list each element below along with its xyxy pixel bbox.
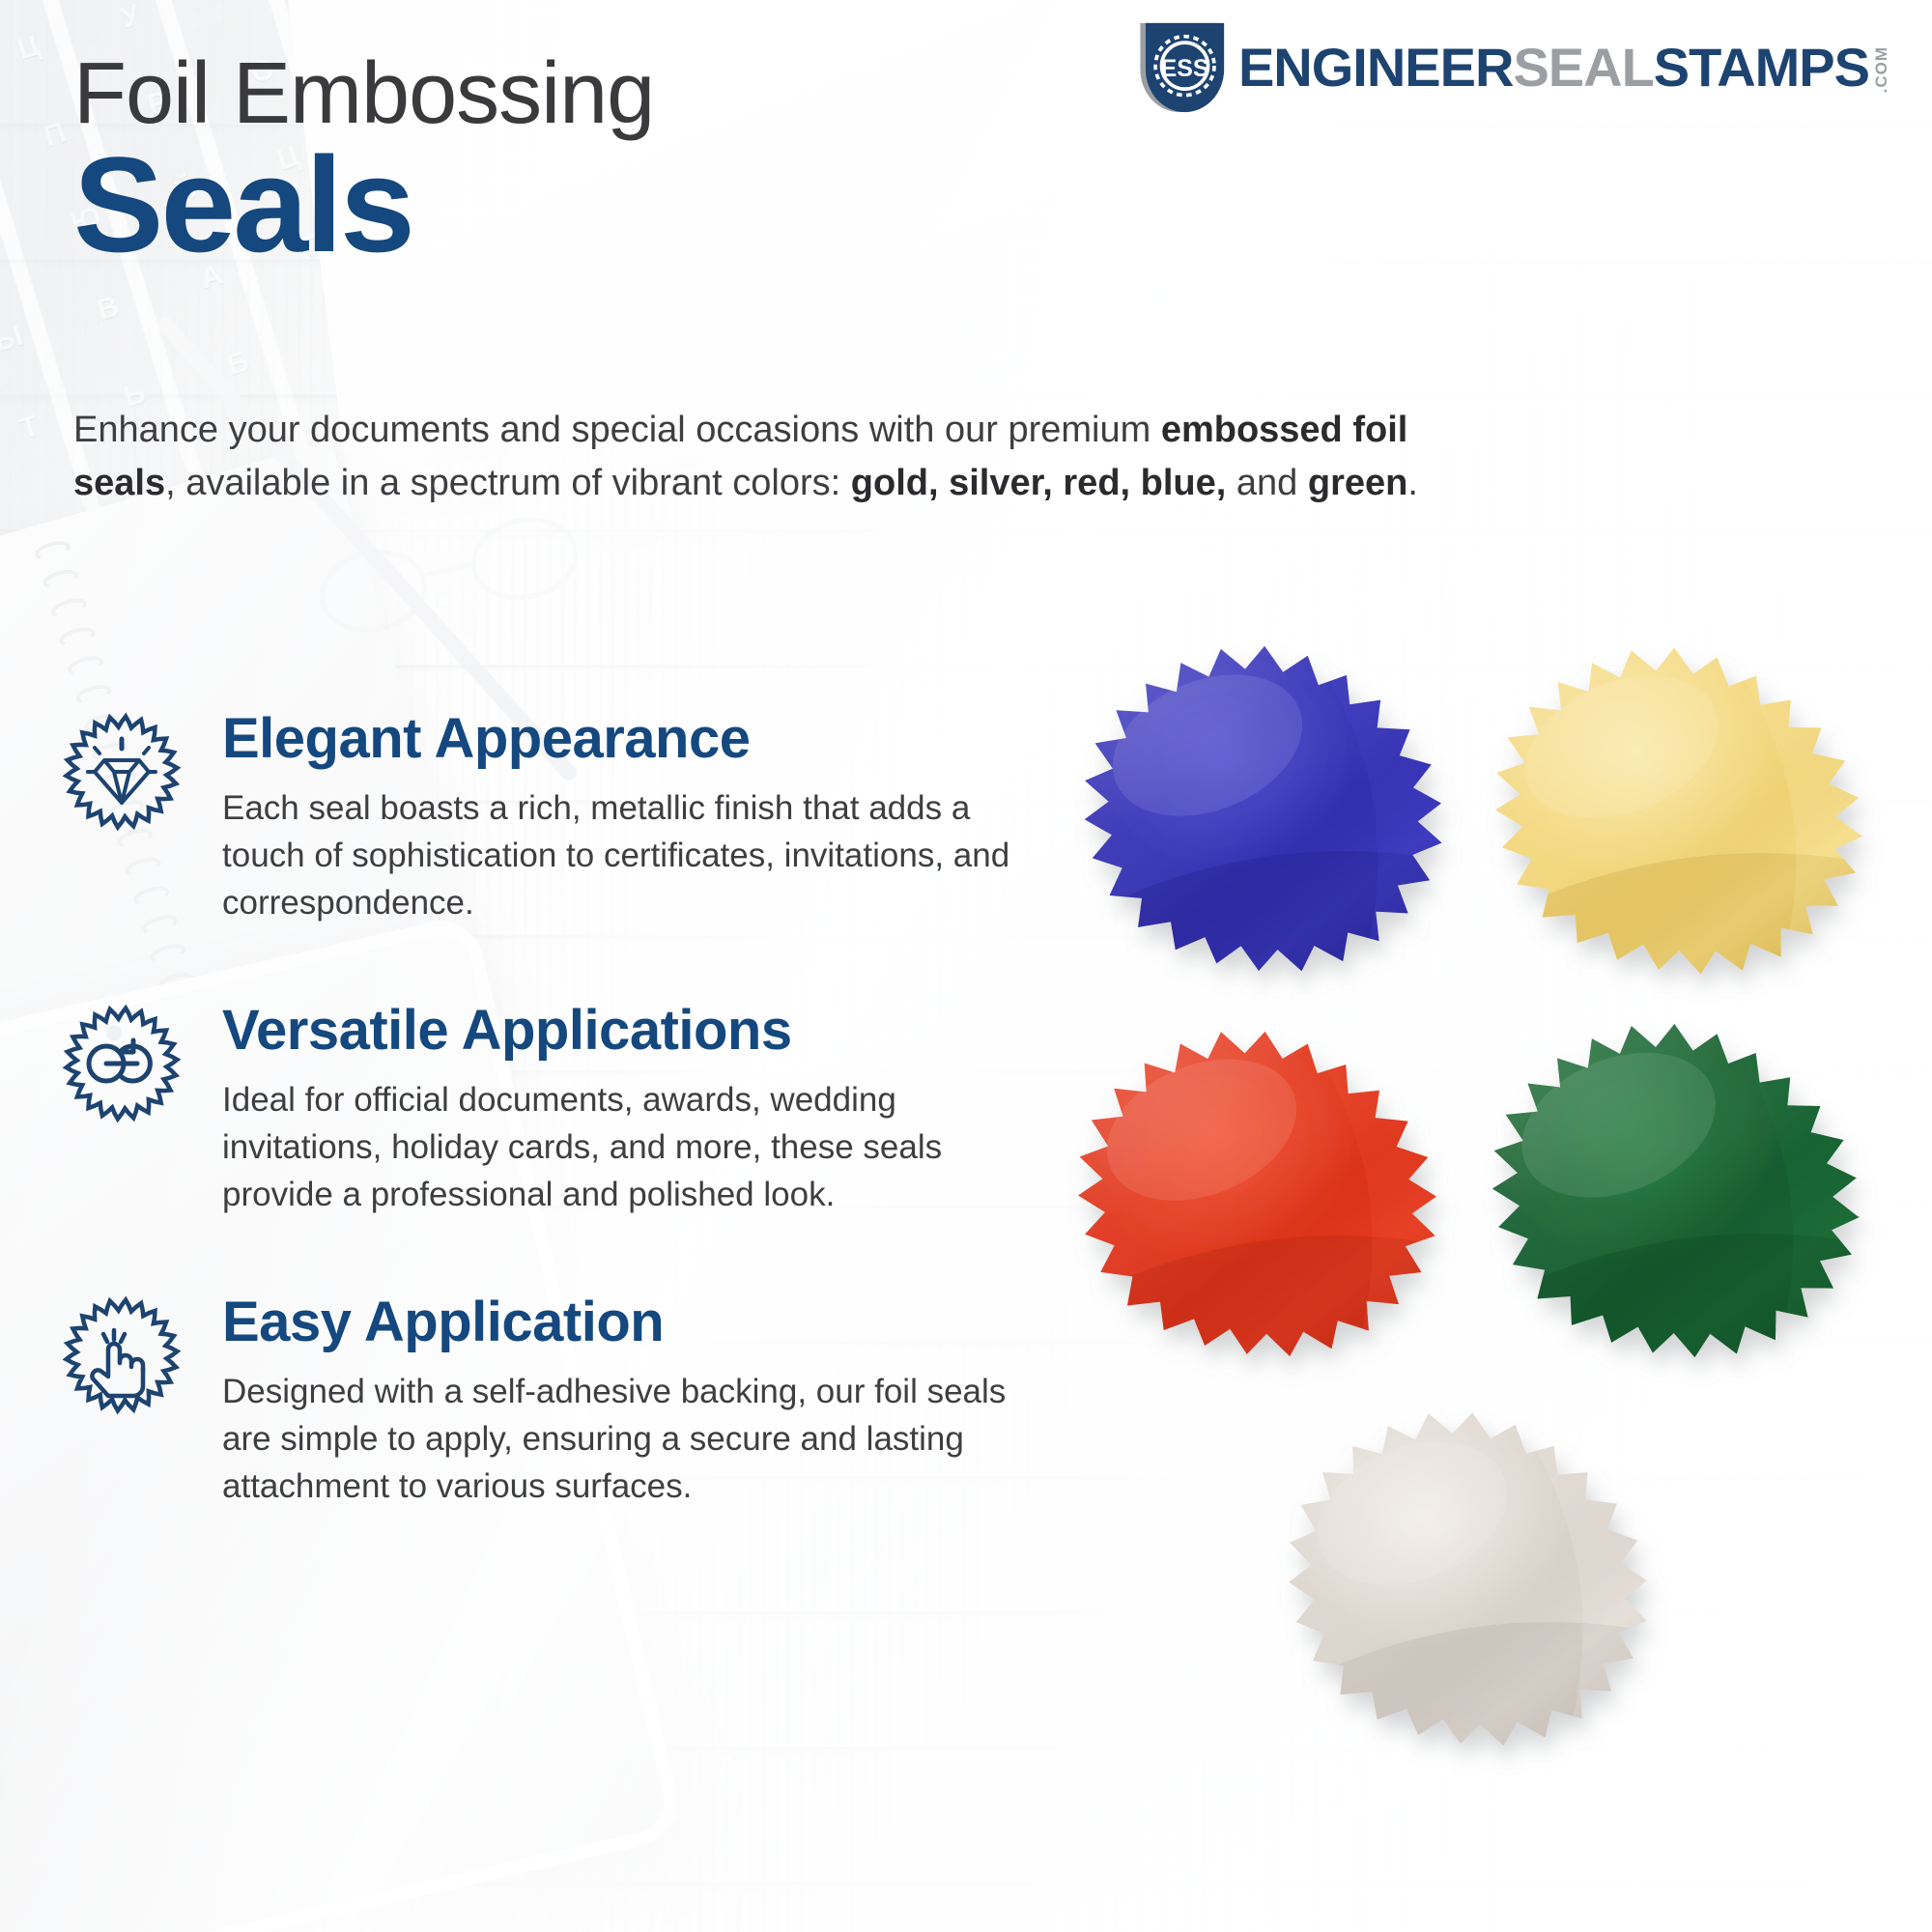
page-title: Foil Embossing Seals xyxy=(73,50,654,268)
intro-bold-2: gold, silver, red, blue, xyxy=(851,463,1227,503)
intro-text-3: and xyxy=(1226,463,1308,503)
seal-green xyxy=(1476,1014,1872,1372)
seal-blue xyxy=(1068,638,1455,985)
infinity-loop-arrow-icon xyxy=(60,1002,184,1125)
red foil seal-shape xyxy=(1063,1022,1449,1370)
feature-body: Ideal for official documents, awards, we… xyxy=(222,1076,1045,1218)
green foil seal-shape xyxy=(1476,1014,1872,1372)
tapping-hand-icon xyxy=(60,1293,184,1417)
brand-word-dotcom: .COM xyxy=(1873,46,1889,93)
blue foil seal-shape xyxy=(1068,638,1455,985)
diamond-sparkle-icon xyxy=(60,710,184,834)
brand-word-seal: SEAL xyxy=(1513,41,1653,95)
svg-text:ESS: ESS xyxy=(1161,55,1209,82)
feature-title: Versatile Applications xyxy=(222,1002,1045,1061)
brand-word-stamps: STAMPS xyxy=(1654,41,1869,95)
intro-text-1: Enhance your documents and special occas… xyxy=(73,410,1161,450)
seal-gold xyxy=(1480,639,1874,987)
silver foil seal-shape xyxy=(1273,1403,1660,1760)
intro-text-2: , available in a spectrum of vibrant col… xyxy=(165,463,851,503)
ess-gear-shield-logo-icon: ESS xyxy=(1134,21,1225,114)
feature-item-elegant-appearance: Elegant Appearance Each seal boasts a ri… xyxy=(60,710,1045,926)
feature-body: Each seal boasts a rich, metallic finish… xyxy=(222,784,1045,926)
brand-wordmark: ENGINEERSEALSTAMPS .COM xyxy=(1238,41,1889,95)
intro-text-4: . xyxy=(1407,463,1418,503)
intro-bold-3: green xyxy=(1308,463,1407,503)
gold foil seal-shape xyxy=(1480,639,1874,987)
feature-item-versatile-applications: Versatile Applications Ideal for officia… xyxy=(60,1002,1045,1218)
feature-title: Easy Application xyxy=(222,1293,1045,1352)
feature-body: Designed with a self-adhesive backing, o… xyxy=(222,1368,1045,1510)
seal-silver xyxy=(1273,1403,1660,1760)
brand-word-engineer: ENGINEER xyxy=(1238,41,1514,95)
headline-line-1: Foil Embossing xyxy=(73,50,654,139)
seal-red xyxy=(1063,1022,1449,1370)
feature-item-easy-application: Easy Application Designed with a self-ad… xyxy=(60,1293,1045,1510)
feature-list: Elegant Appearance Each seal boasts a ri… xyxy=(60,710,1045,1510)
headline-line-2: Seals xyxy=(73,143,654,268)
brand-logo[interactable]: ESS ENGINEERSEALSTAMPS .COM xyxy=(1134,21,1889,114)
feature-title: Elegant Appearance xyxy=(222,710,1045,769)
intro-paragraph: Enhance your documents and special occas… xyxy=(73,404,1445,511)
